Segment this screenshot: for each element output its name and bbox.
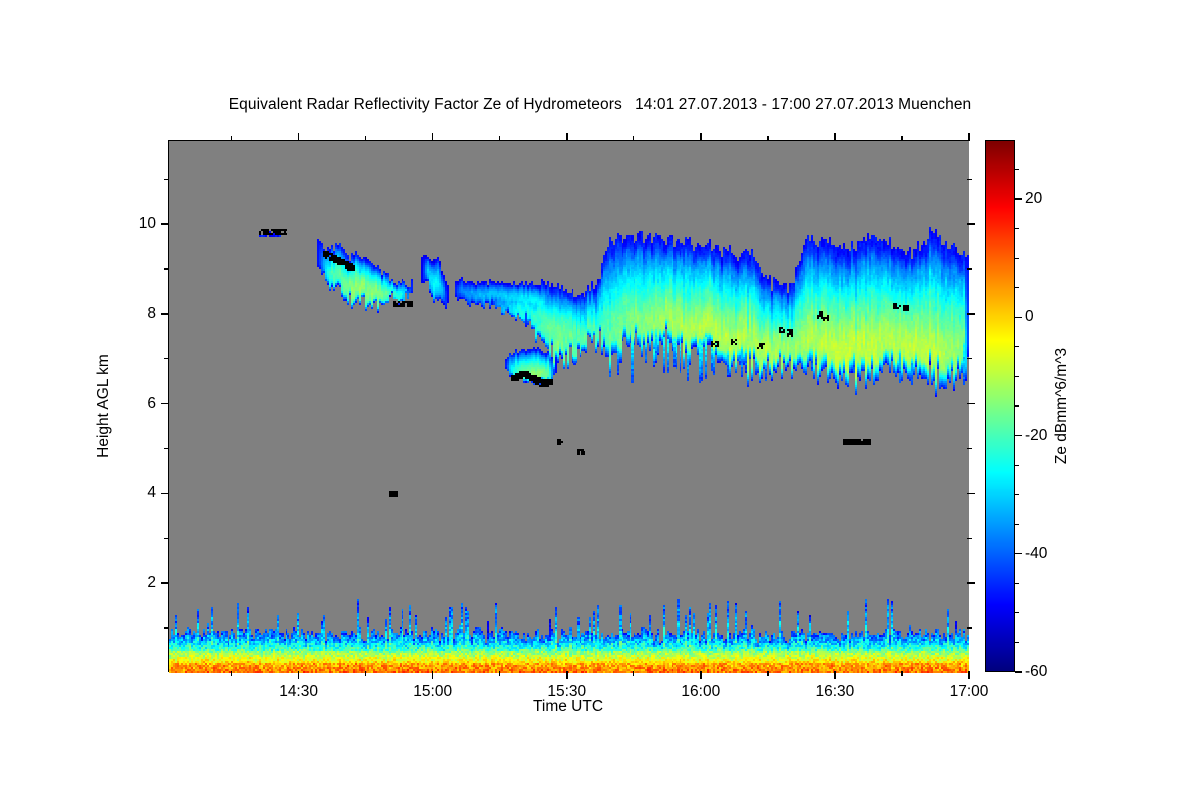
x-tick-major xyxy=(834,133,836,141)
y-tick-minor xyxy=(967,627,972,628)
y-tick-label: 4 xyxy=(147,484,156,502)
x-tick-minor xyxy=(231,671,232,676)
colorbar-tick-minor xyxy=(1015,524,1019,525)
colorbar-tick-minor xyxy=(1015,228,1019,229)
x-tick-label: 16:30 xyxy=(816,683,855,701)
y-tick-major xyxy=(161,493,169,495)
colorbar xyxy=(985,140,1015,672)
y-tick-minor xyxy=(967,538,972,539)
y-tick-minor xyxy=(164,627,169,628)
x-tick-major xyxy=(432,671,434,679)
y-tick-minor xyxy=(164,538,169,539)
colorbar-tick-label: 0 xyxy=(1025,308,1034,326)
y-tick-major xyxy=(967,223,975,225)
x-tick-minor xyxy=(901,671,902,676)
colorbar-tick-minor xyxy=(1015,169,1019,170)
x-tick-major xyxy=(432,133,434,141)
x-tick-minor xyxy=(901,136,902,141)
colorbar-tick-minor xyxy=(1015,346,1019,347)
y-tick-minor xyxy=(164,358,169,359)
x-tick-major xyxy=(834,671,836,679)
y-axis-title: Height AGL km xyxy=(95,354,113,458)
y-tick-major xyxy=(967,493,975,495)
x-tick-label: 17:00 xyxy=(950,683,989,701)
colorbar-tick-minor xyxy=(1015,405,1019,406)
colorbar-tick-minor xyxy=(1015,287,1019,288)
colorbar-tick-minor xyxy=(1015,642,1019,643)
x-tick-minor xyxy=(633,671,634,676)
x-tick-minor xyxy=(365,671,366,676)
y-tick-minor xyxy=(967,448,972,449)
colorbar-tick-major xyxy=(1015,553,1022,554)
y-tick-major xyxy=(161,313,169,315)
x-tick-label: 15:00 xyxy=(413,683,452,701)
colorbar-tick-major xyxy=(1015,317,1022,318)
x-tick-minor xyxy=(365,136,366,141)
colorbar-tick-minor xyxy=(1015,583,1019,584)
x-tick-minor xyxy=(767,671,768,676)
x-tick-major xyxy=(700,133,702,141)
y-tick-minor xyxy=(164,179,169,180)
x-tick-major xyxy=(298,133,300,141)
x-tick-minor xyxy=(767,136,768,141)
y-tick-major xyxy=(967,313,975,315)
x-tick-major xyxy=(298,671,300,679)
x-tick-minor xyxy=(499,136,500,141)
colorbar-tick-minor xyxy=(1015,376,1019,377)
y-tick-label: 6 xyxy=(147,395,156,413)
page-title: Equivalent Radar Reflectivity Factor Ze … xyxy=(0,96,1200,114)
y-tick-minor xyxy=(967,179,972,180)
x-tick-major xyxy=(566,671,568,679)
colorbar-tick-label: -60 xyxy=(1025,663,1047,681)
plot-axes: 24681014:3015:0015:3016:0016:3017:00 xyxy=(168,140,968,672)
x-tick-minor xyxy=(231,136,232,141)
colorbar-tick-major xyxy=(1015,198,1022,199)
y-tick-major xyxy=(967,582,975,584)
colorbar-tick-minor xyxy=(1015,494,1019,495)
y-tick-minor xyxy=(164,448,169,449)
radar-plot-figure: Equivalent Radar Reflectivity Factor Ze … xyxy=(0,0,1200,800)
x-tick-major xyxy=(566,133,568,141)
colorbar-tick-major xyxy=(1015,435,1022,436)
y-tick-minor xyxy=(967,268,972,269)
colorbar-tick-major xyxy=(1015,671,1022,672)
y-tick-major xyxy=(161,223,169,225)
colorbar-tick-label: -20 xyxy=(1025,427,1047,445)
colorbar-gradient xyxy=(986,141,1014,671)
colorbar-tick-minor xyxy=(1015,612,1019,613)
colorbar-title: Ze dBmm^6/m^3 xyxy=(1053,348,1071,464)
reflectivity-heatmap xyxy=(169,141,969,673)
y-tick-label: 2 xyxy=(147,574,156,592)
y-tick-major xyxy=(161,582,169,584)
y-tick-label: 8 xyxy=(147,305,156,323)
y-tick-minor xyxy=(967,358,972,359)
colorbar-tick-minor xyxy=(1015,465,1019,466)
y-tick-major xyxy=(967,403,975,405)
x-tick-minor xyxy=(633,136,634,141)
colorbar-tick-label: -40 xyxy=(1025,545,1047,563)
colorbar-tick-label: 20 xyxy=(1025,190,1042,208)
x-tick-label: 14:30 xyxy=(279,683,318,701)
y-tick-major xyxy=(161,403,169,405)
x-tick-label: 16:00 xyxy=(681,683,720,701)
x-tick-major xyxy=(700,671,702,679)
x-axis-title: Time UTC xyxy=(533,698,603,716)
x-tick-minor xyxy=(499,671,500,676)
y-tick-minor xyxy=(164,268,169,269)
x-tick-major xyxy=(968,133,970,141)
colorbar-tick-minor xyxy=(1015,258,1019,259)
x-tick-major xyxy=(968,671,970,679)
y-tick-label: 10 xyxy=(139,215,156,233)
